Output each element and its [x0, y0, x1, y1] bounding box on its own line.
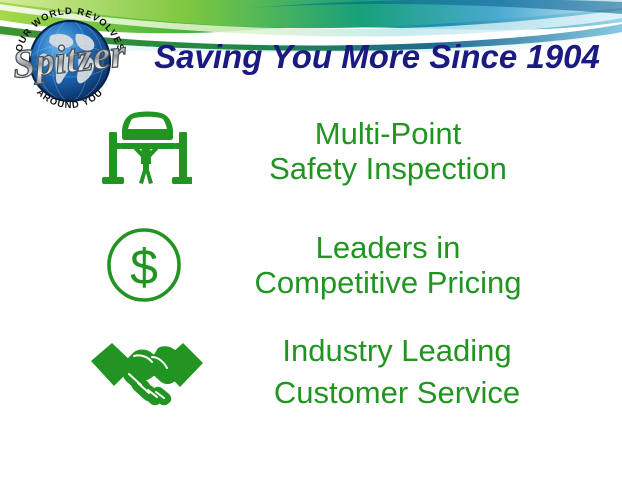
- benefit-row-customer-service: Industry Leading Customer Service: [88, 330, 596, 413]
- logo-globe-graphic: OUR WORLD REVOLVES AROUND YOU Spitzer: [6, 4, 134, 116]
- dollar-circle-icon-graphic: $: [96, 222, 192, 308]
- car-lift-icon: [96, 108, 192, 194]
- benefit-line: Safety Inspection: [192, 151, 584, 186]
- benefit-row-safety-inspection: Multi-Point Safety Inspection: [96, 108, 596, 194]
- page-title: Saving You More Since 1904: [140, 38, 614, 76]
- car-lift-icon-graphic: [96, 108, 192, 194]
- benefit-text-competitive-pricing: Leaders in Competitive Pricing: [192, 230, 584, 300]
- spitzer-logo: OUR WORLD REVOLVES AROUND YOU Spitzer: [6, 4, 134, 116]
- svg-text:$: $: [130, 239, 158, 295]
- promo-slide: OUR WORLD REVOLVES AROUND YOU Spitzer Sa…: [0, 0, 622, 483]
- benefit-line: Multi-Point: [192, 116, 584, 151]
- benefit-row-competitive-pricing: $ Leaders in Competitive Pricing: [96, 222, 596, 308]
- benefit-line: Leaders in: [192, 230, 584, 265]
- dollar-circle-icon: $: [96, 222, 192, 308]
- benefit-line: Competitive Pricing: [192, 265, 584, 300]
- handshake-icon: [88, 331, 206, 413]
- benefit-line: Industry Leading: [206, 330, 588, 372]
- benefit-text-safety-inspection: Multi-Point Safety Inspection: [192, 116, 584, 186]
- benefit-line: Customer Service: [206, 372, 588, 414]
- handshake-icon-graphic: [88, 331, 206, 413]
- benefit-text-customer-service: Industry Leading Customer Service: [206, 330, 588, 413]
